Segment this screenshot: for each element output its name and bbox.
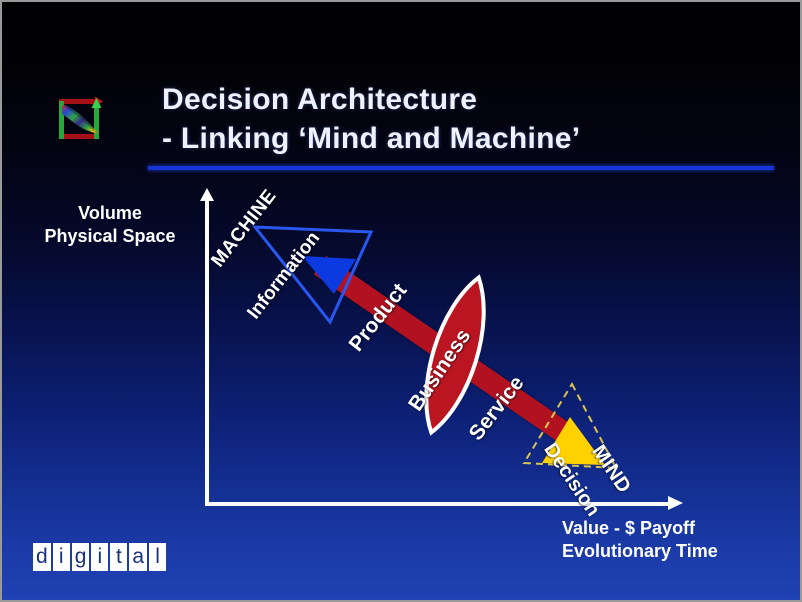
x-axis-caption-line-2: Evolutionary Time bbox=[562, 540, 792, 563]
x-axis-caption: Value - $ Payoff Evolutionary Time bbox=[562, 517, 792, 563]
digital-cube-logo-icon bbox=[51, 90, 109, 148]
y-axis-line bbox=[205, 198, 209, 506]
title-divider bbox=[148, 166, 774, 170]
y-axis-caption-line-2: Physical Space bbox=[20, 225, 200, 248]
brand-letter-i-3: i bbox=[91, 543, 108, 571]
brand-letter-g-2: g bbox=[72, 543, 90, 571]
brand-letter-d-0: d bbox=[33, 543, 51, 571]
digital-brand-wordmark: digital bbox=[33, 543, 166, 571]
brand-letter-i-1: i bbox=[53, 543, 70, 571]
y-axis-caption: Volume Physical Space bbox=[20, 202, 200, 248]
x-axis-caption-line-1: Value - $ Payoff bbox=[562, 517, 792, 540]
y-axis-arrowhead-icon bbox=[200, 188, 214, 201]
brand-letter-t-4: t bbox=[110, 543, 127, 571]
y-axis-caption-line-1: Volume bbox=[20, 202, 200, 225]
brand-letter-l-6: l bbox=[149, 543, 166, 571]
x-axis-arrowhead-icon bbox=[668, 496, 683, 510]
title-line-1: Decision Architecture bbox=[162, 80, 762, 119]
page-title: Decision Architecture - Linking ‘Mind an… bbox=[162, 80, 762, 158]
presentation-slide: Decision Architecture - Linking ‘Mind an… bbox=[0, 0, 802, 602]
brand-letter-a-5: a bbox=[129, 543, 147, 571]
title-line-2: - Linking ‘Mind and Machine’ bbox=[162, 119, 762, 158]
